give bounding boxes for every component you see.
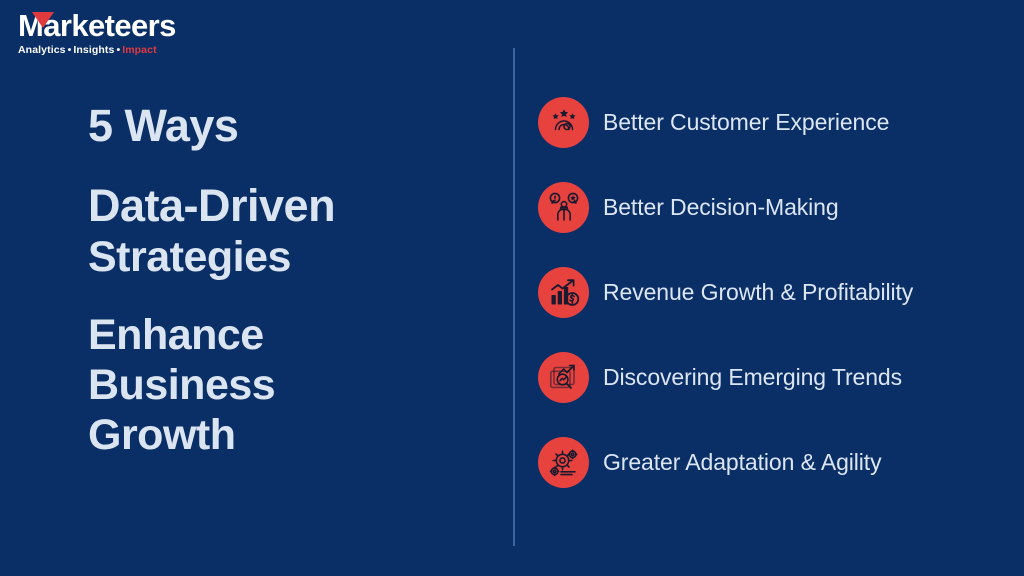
list-item[interactable]: Greater Adaptation & Agility (538, 436, 1008, 488)
red-triangle-icon (32, 12, 54, 28)
list-item[interactable]: Better Customer Experience (538, 96, 1008, 148)
bar-chart-growth-dollar-icon (538, 267, 589, 318)
vertical-divider (513, 48, 515, 546)
list-item[interactable]: Discovering Emerging Trends (538, 351, 1008, 403)
list-item-label: Better Customer Experience (603, 109, 889, 136)
gears-agility-icon (538, 437, 589, 488)
headline-line: Data-Driven (88, 180, 488, 232)
tagline-impact: Impact (122, 44, 156, 56)
tagline-analytics: Analytics (18, 44, 66, 56)
person-decision-bubbles-icon (538, 182, 589, 233)
brand-name: Marketeers (16, 10, 216, 43)
magnifier-trend-icon (538, 352, 589, 403)
brand-logo: Marketeers Analytics•Insights•Impact (16, 10, 216, 56)
list-item-label: Revenue Growth & Profitability (603, 279, 913, 306)
list-item[interactable]: Revenue Growth & Profitability (538, 266, 1008, 318)
headline-line: Business (88, 360, 488, 410)
list-item[interactable]: Better Decision-Making (538, 181, 1008, 233)
list-item-label: Discovering Emerging Trends (603, 364, 902, 391)
list-item-label: Better Decision-Making (603, 194, 839, 221)
slide-canvas: Marketeers Analytics•Insights•Impact 5 W… (0, 0, 1024, 576)
headline-line: Growth (88, 410, 488, 460)
tagline-insights: Insights (73, 44, 114, 56)
benefits-list: Better Customer Experience (538, 96, 1008, 488)
headline-block-3: Enhance Business Growth (88, 310, 488, 460)
customer-rating-stars-icon (538, 97, 589, 148)
page-title: 5 Ways Data-Driven Strategies Enhance Bu… (88, 100, 488, 460)
headline-line: 5 Ways (88, 100, 488, 152)
list-item-label: Greater Adaptation & Agility (603, 449, 881, 476)
headline-block-2: Data-Driven Strategies (88, 180, 488, 282)
headline-block-1: 5 Ways (88, 100, 488, 152)
brand-tagline: Analytics•Insights•Impact (16, 44, 216, 56)
headline-line: Strategies (88, 232, 488, 282)
headline-line: Enhance (88, 310, 488, 360)
